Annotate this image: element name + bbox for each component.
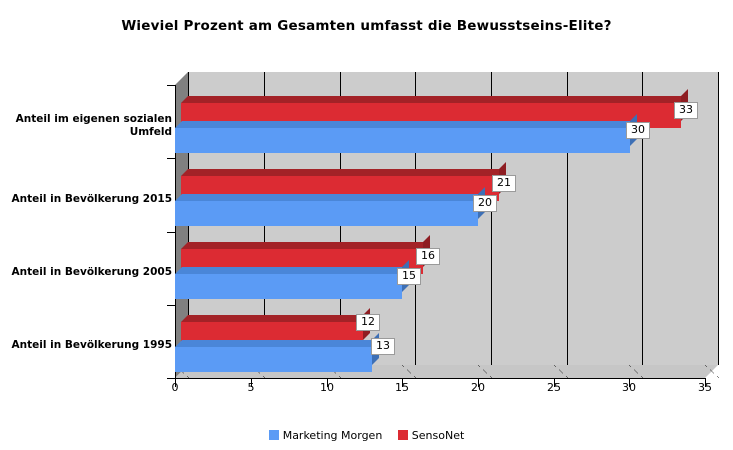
grid-connector-30 — [629, 365, 643, 378]
grid-connector-15 — [402, 365, 416, 378]
data-label-marketing-morgen-1: 20 — [473, 195, 497, 212]
bar-top-face — [175, 194, 485, 201]
data-label-marketing-morgen-0: 30 — [626, 122, 650, 139]
x-tick-label-20: 20 — [463, 381, 493, 394]
y-tick-top — [167, 85, 176, 86]
bar-front-face — [175, 347, 372, 372]
bar-front-face — [175, 128, 630, 153]
data-label-sensonet-3: 12 — [356, 314, 380, 331]
legend-label-sensonet: SensoNet — [412, 429, 465, 442]
x-tick-label-30: 30 — [614, 381, 644, 394]
x-tick-label-25: 25 — [539, 381, 569, 394]
x-tick-label-35: 35 — [690, 381, 720, 394]
category-label-3-line-1: Anteil in Bevölkerung 1995 — [0, 339, 172, 352]
category-label-0-line-2: Umfeld — [0, 126, 172, 139]
bar-top-face — [175, 340, 379, 347]
data-label-marketing-morgen-2: 15 — [397, 268, 421, 285]
data-label-sensonet-0: 33 — [674, 102, 698, 119]
y-tick-1 — [167, 158, 176, 159]
y-tick-3 — [167, 305, 176, 306]
bar-top-face — [181, 242, 430, 249]
legend-label-marketing-morgen: Marketing Morgen — [283, 429, 383, 442]
x-tick-label-10: 10 — [312, 381, 342, 394]
bar-marketing-morgen-3[interactable] — [175, 347, 372, 372]
chart-title: Wieviel Prozent am Gesamten umfasst die … — [0, 18, 733, 34]
gridline-35 — [718, 72, 719, 365]
data-label-sensonet-2: 16 — [416, 248, 440, 265]
legend-entry-marketing-morgen[interactable]: Marketing Morgen — [269, 429, 383, 442]
bar-marketing-morgen-2[interactable] — [175, 274, 402, 299]
grid-connector-20 — [478, 365, 492, 378]
bar-marketing-morgen-0[interactable] — [175, 128, 630, 153]
chart-container: Wieviel Prozent am Gesamten umfasst die … — [0, 0, 733, 450]
x-axis — [175, 378, 705, 379]
category-label-2: Anteil in Bevölkerung 2005 — [0, 266, 172, 279]
bar-top-face — [181, 315, 370, 322]
category-label-0: Anteil im eigenen sozialen Umfeld — [0, 113, 172, 139]
data-label-marketing-morgen-3: 13 — [371, 338, 395, 355]
x-tick-label-5: 5 — [236, 381, 266, 394]
bar-front-face — [175, 274, 402, 299]
bar-top-face — [181, 96, 688, 103]
grid-connector-25 — [554, 365, 568, 378]
category-label-1-line-1: Anteil in Bevölkerung 2015 — [0, 193, 172, 206]
legend-swatch-blue-icon — [269, 430, 279, 440]
data-label-sensonet-1: 21 — [492, 175, 516, 192]
category-label-3: Anteil in Bevölkerung 1995 — [0, 339, 172, 352]
y-tick-bottom — [167, 378, 176, 379]
y-tick-2 — [167, 232, 176, 233]
chart-legend: Marketing Morgen SensoNet — [0, 428, 733, 442]
grid-connector-35 — [705, 365, 719, 378]
bar-top-face — [175, 267, 409, 274]
bar-marketing-morgen-1[interactable] — [175, 201, 478, 226]
x-tick-label-15: 15 — [387, 381, 417, 394]
bar-top-face — [175, 121, 637, 128]
category-label-2-line-1: Anteil in Bevölkerung 2005 — [0, 266, 172, 279]
bar-front-face — [175, 201, 478, 226]
legend-entry-sensonet[interactable]: SensoNet — [398, 429, 465, 442]
x-tick-label-0: 0 — [160, 381, 190, 394]
bar-top-face — [181, 169, 506, 176]
category-label-0-line-1: Anteil im eigenen sozialen — [0, 113, 172, 126]
category-label-1: Anteil in Bevölkerung 2015 — [0, 193, 172, 206]
legend-swatch-red-icon — [398, 430, 408, 440]
